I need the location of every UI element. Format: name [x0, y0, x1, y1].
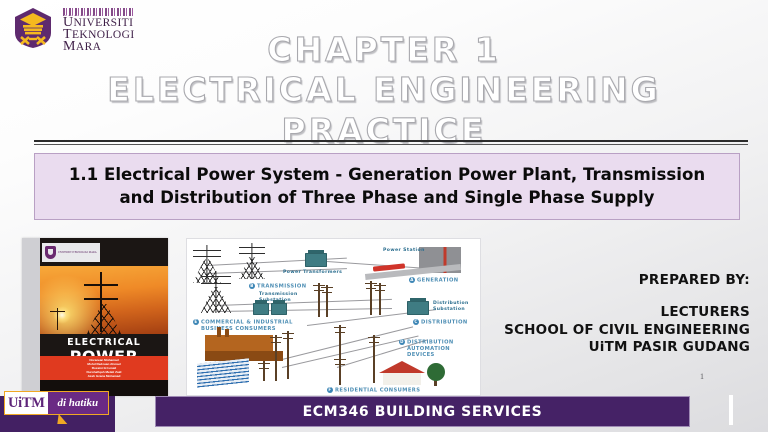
prepared-by-line1: LECTURERS: [470, 304, 750, 322]
label-commercial-industrial: ECOMMERCIAL & INDUSTRIAL BUSINESS CONSUM…: [193, 319, 293, 332]
uitm-di-hatiku-badge: UiTM di hatiku: [4, 391, 109, 415]
pylon-legs-icon: [87, 304, 121, 334]
wire: [217, 299, 392, 306]
arabic-script-icon: [63, 8, 135, 16]
wire: [217, 308, 392, 312]
substation-transformer-icon: [253, 303, 269, 315]
prepared-by-line3: UiTM PASIR GUDANG: [470, 339, 750, 357]
chimney-icon: [217, 327, 221, 337]
prepared-by-lines: LECTURERS SCHOOL OF CIVIL ENGINEERING Ui…: [470, 304, 750, 357]
transmission-pylon-icon: [239, 243, 265, 279]
utility-pole-icon: [339, 357, 341, 385]
utility-pole-icon: [326, 285, 328, 317]
sun-flare-icon: [53, 306, 71, 324]
title-line-chapter: CHAPTER 1: [0, 30, 768, 70]
footer-course-label: ECM346 BUILDING SERVICES: [303, 404, 543, 420]
label-distribution-automation: DDISTRIBUTION AUTOMATION DEVICES: [399, 339, 454, 359]
topic-objective-text: 1.1 Electrical Power System - Generation…: [57, 163, 717, 209]
label-power-transformers: Power Transformers: [283, 270, 342, 277]
badge-uitm-text: UiTM: [5, 392, 48, 414]
power-transformer-icon: [305, 253, 327, 267]
label-distribution: CDISTRIBUTION: [413, 319, 468, 326]
prepared-by-heading: PREPARED BY:: [470, 272, 750, 288]
label-generation: AGENERATION: [409, 277, 459, 284]
divider-rule-bottom: [34, 144, 748, 145]
wire: [282, 326, 413, 359]
label-distribution-substation-line2: Substation: [433, 307, 465, 314]
utility-pole-icon: [263, 361, 265, 381]
transmission-pylon-icon: [201, 271, 231, 313]
label-transmission: BTRANSMISSION: [249, 283, 306, 290]
bullet-icon: D: [399, 339, 405, 345]
substation-transformer-icon: [271, 303, 287, 315]
office-building-icon: [197, 358, 249, 387]
prepared-by-line2: SCHOOL OF CIVIL ENGINEERING: [470, 322, 750, 340]
prepared-by-block: PREPARED BY: LECTURERS SCHOOL OF CIVIL E…: [470, 272, 750, 357]
book-shield-icon: [45, 246, 56, 259]
bullet-icon: C: [413, 319, 419, 325]
presentation-slide: UNIVERSITI TEKNOLOGI MARA CHAPTER 1 ELEC…: [0, 0, 768, 432]
slide-title: CHAPTER 1 ELECTRICAL ENGINEERING PRACTIC…: [0, 30, 768, 151]
utility-pole-icon: [275, 335, 277, 381]
title-line-subject: ELECTRICAL ENGINEERING PRACTICE: [0, 70, 768, 151]
utility-pole-icon: [379, 283, 381, 315]
book-publisher-logo: UNIVERSITI TEKNOLOGI MARA: [42, 243, 100, 262]
small-pylon-icon: [57, 308, 58, 330]
house-body-icon: [383, 371, 421, 385]
book-photo-transmission-tower: [40, 266, 168, 334]
label-residential-consumers: FRESIDENTIAL CONSUMERS: [327, 387, 420, 394]
university-name-line1: UNIVERSITI: [63, 17, 135, 29]
utility-pole-icon: [373, 335, 375, 383]
badge-tagline-text: di hatiku: [48, 397, 108, 409]
bullet-icon: E: [193, 319, 199, 325]
textbook-cover-image: UNIVERSITI TEKNOLOGI MARA ELECTRICAL POW…: [22, 238, 168, 396]
book-author: Azah Izzana Mohamad: [88, 374, 121, 378]
bullet-icon: B: [249, 283, 255, 289]
chimney-icon: [225, 329, 229, 337]
utility-pole-icon: [370, 281, 372, 315]
utility-pole-icon: [287, 331, 289, 379]
decorative-tick: [729, 395, 733, 425]
bullet-icon: A: [409, 277, 415, 283]
tree-icon: [427, 363, 445, 381]
label-power-station: Power Station: [383, 248, 425, 255]
power-system-diagram-image: Power Transformers BTRANSMISSION Transmi…: [186, 238, 481, 396]
bullet-icon: F: [327, 387, 333, 393]
topic-objective-box: 1.1 Electrical Power System - Generation…: [34, 153, 740, 220]
divider-rule-top: [34, 140, 748, 142]
house-roof-icon: [379, 361, 425, 373]
slide-number: 1: [700, 372, 704, 381]
distribution-substation-icon: [407, 301, 429, 315]
badge-tail-icon: [57, 414, 68, 424]
utility-pole-icon: [318, 283, 320, 317]
footer-course-bar: ECM346 BUILDING SERVICES: [155, 396, 690, 427]
book-author-band: Norazean Mohamad Mohd Redzuan Ahmad Roza…: [40, 356, 168, 380]
book-publisher-name: UNIVERSITI TEKNOLOGI MARA: [58, 251, 97, 254]
